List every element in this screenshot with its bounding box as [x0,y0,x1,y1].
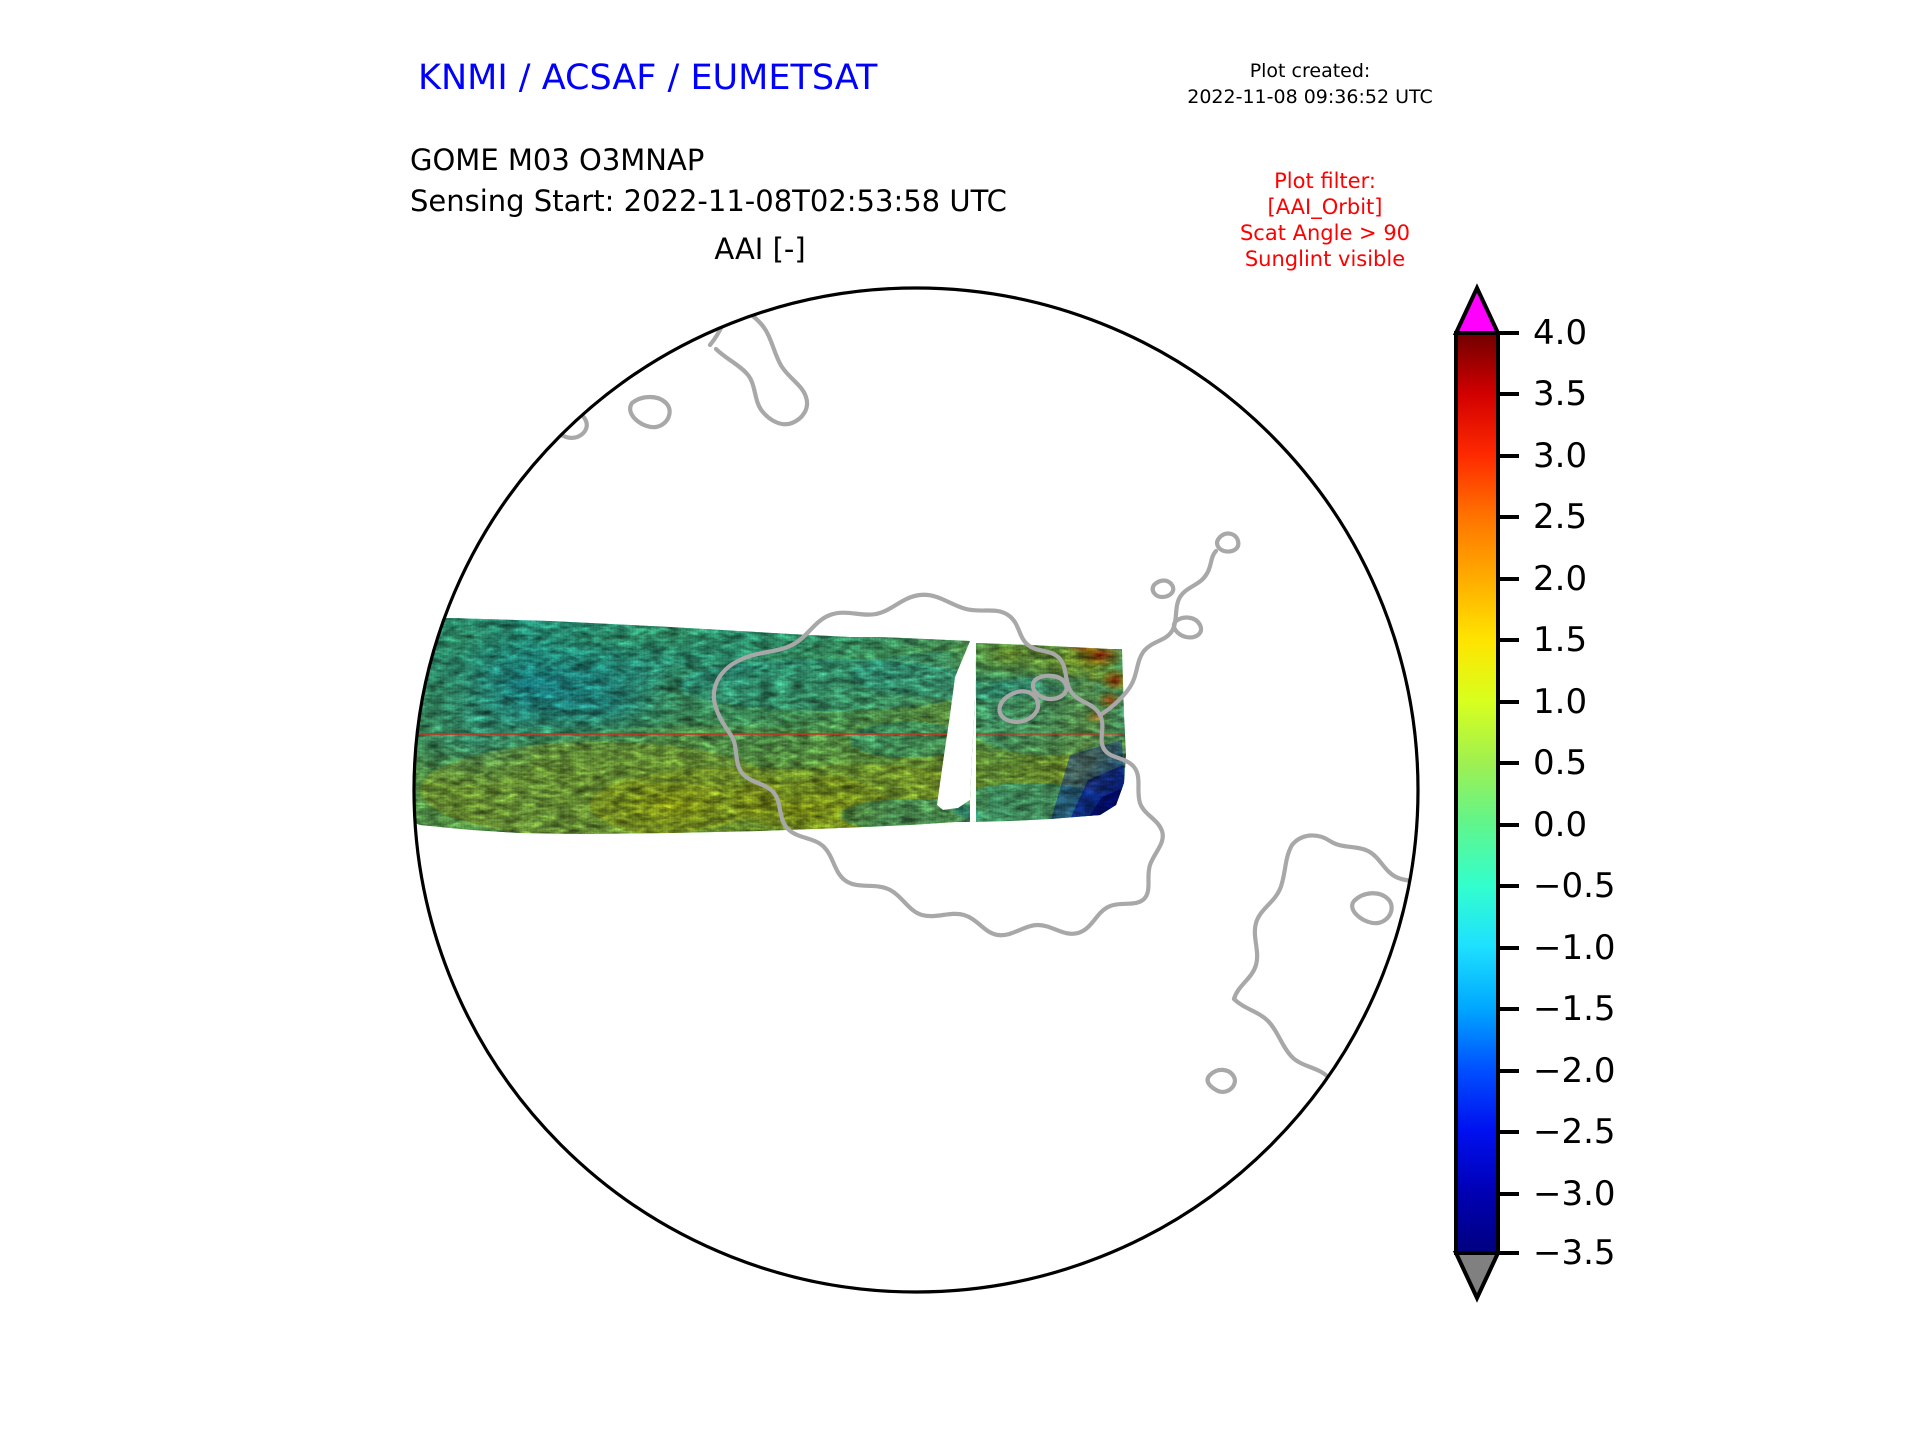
cb-label-8: 0.0 [1533,805,1587,845]
plot-title-block: GOME M03 O3MNAP Sensing Start: 2022-11-0… [410,140,1007,222]
cb-label-11: −1.5 [1533,989,1616,1029]
cb-label-13: −2.5 [1533,1112,1616,1152]
title-line-sensing-start: Sensing Start: 2022-11-08T02:53:58 UTC [410,181,1007,222]
colorbar-under-arrow [1456,1253,1498,1298]
plot-filter-block: Plot filter: [AAI_Orbit] Scat Angle > 90… [1180,168,1470,272]
colorbar-over-arrow [1456,288,1498,333]
cb-label-6: 1.0 [1533,682,1587,722]
title-line-instrument: GOME M03 O3MNAP [410,140,1007,181]
cb-label-1: 3.5 [1533,374,1587,414]
cb-label-10: −1.0 [1533,928,1616,968]
colorbar-ticks [1498,333,1519,1253]
plot-created-label: Plot created: [1160,58,1460,84]
colorbar-tick-labels: 4.0 3.5 3.0 2.5 2.0 1.5 1.0 0.5 0.0 −0.5… [1533,313,1616,1273]
plot-filter-name: [AAI_Orbit] [1180,194,1470,220]
variable-title: AAI [-] [410,232,1110,266]
colorbar: 4.0 3.5 3.0 2.5 2.0 1.5 1.0 0.5 0.0 −0.5… [1425,280,1705,1340]
cb-label-15: −3.5 [1533,1233,1616,1273]
plot-created-value: 2022-11-08 09:36:52 UTC [1160,84,1460,110]
orthographic-map [410,285,1420,1297]
colorbar-gradient [1456,333,1498,1253]
plot-created-block: Plot created: 2022-11-08 09:36:52 UTC [1160,58,1460,110]
cb-label-2: 3.0 [1533,436,1587,476]
cb-label-14: −3.0 [1533,1174,1616,1214]
cb-label-5: 1.5 [1533,620,1587,660]
plot-filter-scat-angle: Scat Angle > 90 [1180,220,1470,246]
cb-label-12: −2.0 [1533,1051,1616,1091]
cb-label-9: −0.5 [1533,866,1616,906]
plot-filter-label: Plot filter: [1180,168,1470,194]
colorbar-svg: 4.0 3.5 3.0 2.5 2.0 1.5 1.0 0.5 0.0 −0.5… [1425,280,1705,1340]
plot-filter-sunglint: Sunglint visible [1180,246,1470,272]
institutes-header: KNMI / ACSAF / EUMETSAT [418,58,877,98]
cb-label-3: 2.5 [1533,497,1587,537]
map-plot-area [410,285,1420,1297]
cb-label-7: 0.5 [1533,743,1587,783]
cb-label-4: 2.0 [1533,559,1587,599]
cb-label-0: 4.0 [1533,313,1587,353]
